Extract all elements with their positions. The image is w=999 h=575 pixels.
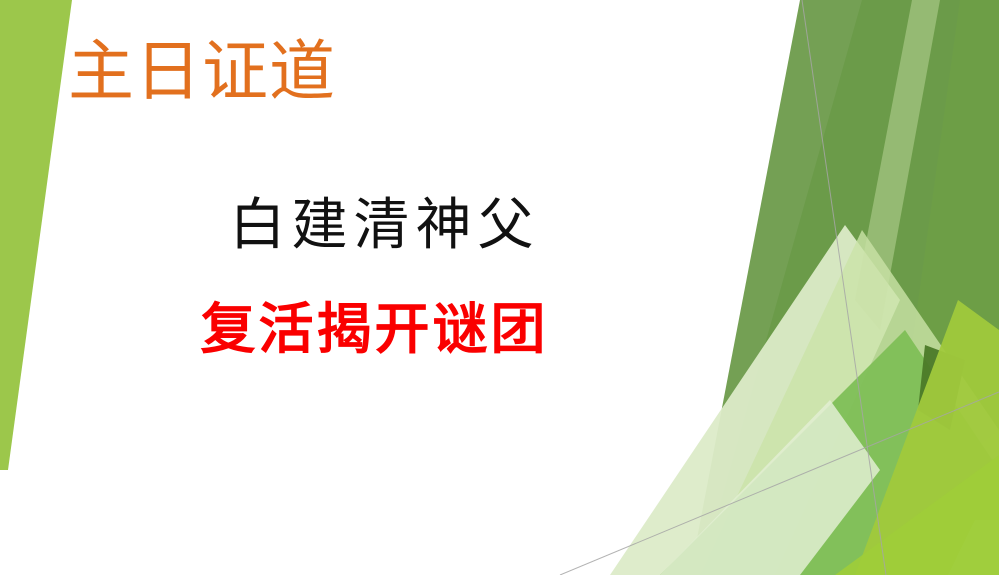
speaker-name: 白建清神父	[0, 196, 999, 258]
page-title: 主日证道	[68, 38, 336, 107]
sermon-topic: 复活揭开谜团	[0, 300, 999, 361]
presentation-slide: 主日证道 白建清神父 复活揭开谜团	[0, 0, 999, 575]
slide-text-layer: 主日证道 白建清神父 复活揭开谜团	[0, 0, 999, 575]
